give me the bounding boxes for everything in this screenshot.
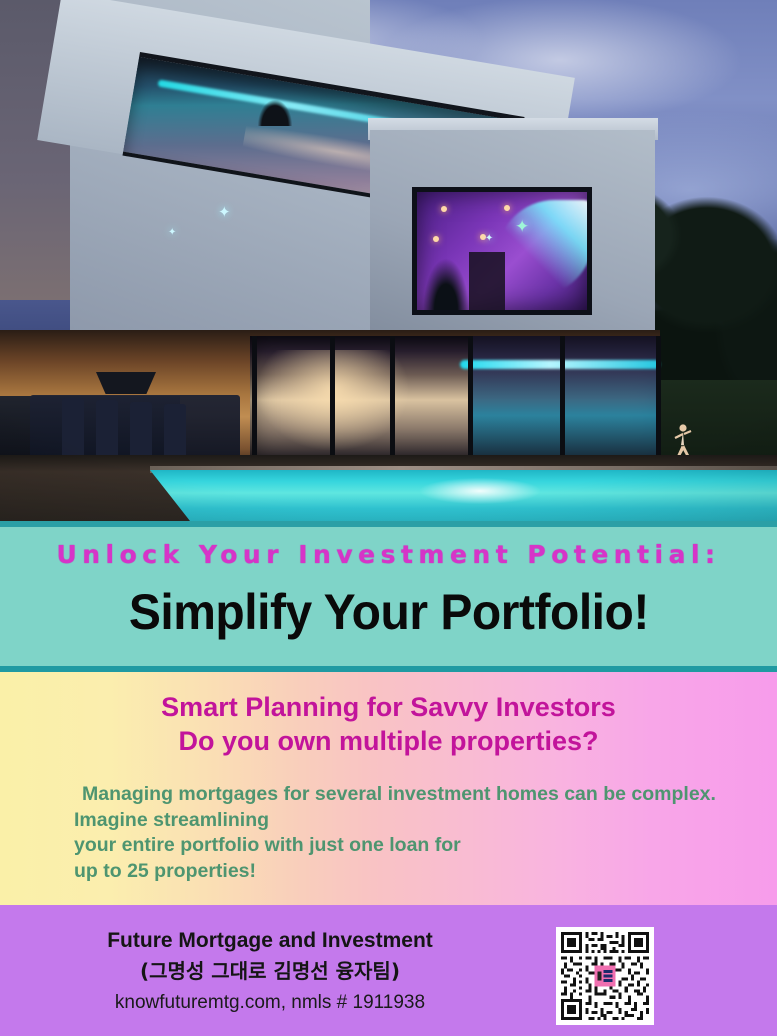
paragraph-line: your entire portfolio with just one loan…	[74, 833, 734, 859]
headline-band: Unlock Your Investment Potential: Simpli…	[0, 521, 777, 672]
sparkle-icon: ✦	[168, 228, 176, 238]
sparkle-icon: ✦	[515, 218, 529, 235]
body-paragraph: Managing mortgages for several investmen…	[74, 782, 734, 884]
company-name-korean: (그명성 그대로 김명선 융자팀)	[0, 955, 540, 984]
sparkle-icon: ✦	[218, 205, 231, 220]
flyer-poster: ✦ ✦ ✦ ✦	[0, 0, 777, 1036]
body-band: Smart Planning for Savvy Investors Do yo…	[0, 672, 777, 905]
hero-photo: ✦ ✦ ✦ ✦	[0, 0, 777, 521]
footer-band: Future Mortgage and Investment (그명성 그대로 …	[0, 905, 777, 1036]
company-name: Future Mortgage and Investment	[0, 929, 540, 953]
roof-planter	[258, 100, 292, 126]
subheadline-2: Do you own multiple properties?	[0, 726, 777, 757]
qr-code[interactable]	[556, 927, 654, 1025]
footer-text-block: Future Mortgage and Investment (그명성 그대로 …	[0, 905, 540, 1036]
kicker-text: Unlock Your Investment Potential:	[56, 540, 720, 569]
main-headline: Simplify Your Portfolio!	[128, 583, 648, 641]
range-hood	[96, 372, 156, 394]
pool-light-reflection	[420, 478, 540, 504]
sparkle-icon: ✦	[485, 234, 493, 244]
subheadline-1: Smart Planning for Savvy Investors	[0, 692, 777, 723]
paragraph-line: Managing mortgages for several investmen…	[74, 782, 734, 808]
purple-lit-room-window: ✦ ✦	[412, 187, 592, 315]
contact-line: knowfuturemtg.com, nmls # 1911938	[0, 992, 540, 1014]
paragraph-line: up to 25 properties!	[74, 859, 734, 885]
qr-code-icon	[561, 932, 649, 1020]
paragraph-line: Imagine streamlining	[74, 808, 734, 834]
interior-right-room	[470, 336, 660, 464]
